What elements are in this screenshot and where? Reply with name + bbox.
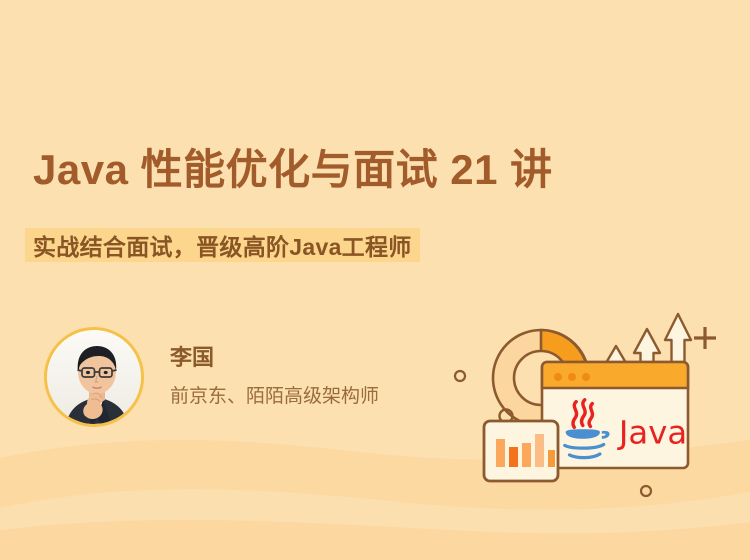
page-title: Java 性能优化与面试 21 讲	[33, 146, 553, 194]
plus-mark-icon	[694, 327, 716, 349]
page-subtitle: 实战结合面试，晋级高阶Java工程师	[33, 228, 412, 262]
author-block: 李国 前京东、陌陌高级架构师	[44, 327, 379, 427]
java-wordmark: Java	[617, 414, 687, 452]
bar-chart-card-icon	[484, 410, 558, 482]
window-dots-icon	[554, 373, 590, 381]
author-name: 李国	[170, 345, 379, 371]
author-text: 李国 前京东、陌陌高级架构师	[170, 345, 379, 408]
decor-circle-bottom-icon	[641, 486, 651, 496]
illustration-group: Java	[448, 288, 748, 528]
avatar-photo	[47, 330, 141, 424]
avatar	[44, 327, 144, 427]
browser-window-icon: Java	[542, 362, 688, 468]
subtitle-highlight: 实战结合面试，晋级高阶Java工程师	[25, 228, 420, 262]
avatar-portrait-icon	[47, 330, 141, 424]
course-cover: Java 性能优化与面试 21 讲 实战结合面试，晋级高阶Java工程师	[0, 0, 750, 560]
author-role: 前京东、陌陌高级架构师	[170, 386, 379, 409]
decor-circle-left-icon	[455, 371, 465, 381]
